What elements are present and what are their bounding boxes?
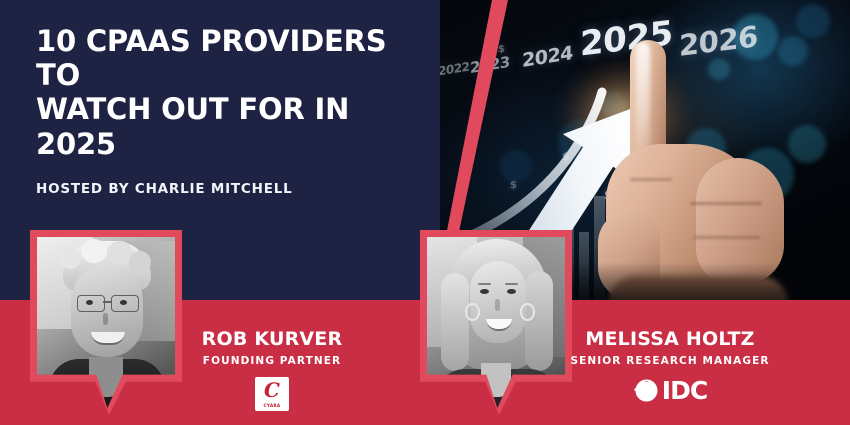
year-label-2022: 2022 [440, 60, 469, 79]
title-line-2: WATCH OUT FOR IN 2025 [36, 92, 349, 160]
page-title: 10 CPaaS PROVIDERS TO WATCH OUT FOR IN 2… [36, 24, 436, 161]
right-red-band [438, 318, 850, 425]
dollar-symbol: $ [510, 180, 517, 191]
title-line-1: 10 CPaaS PROVIDERS TO [36, 24, 386, 92]
dollar-symbol: $ [498, 44, 505, 55]
title-block: 10 CPaaS PROVIDERS TO WATCH OUT FOR IN 2… [36, 24, 436, 197]
host-line: HOSTED BY CHARLIE MITCHELL [36, 181, 436, 197]
bokeh-light [796, 4, 830, 38]
year-label-2024: 2024 [522, 42, 573, 72]
hero-artwork: 2022 2023 2024 2025 2026 [440, 0, 850, 318]
webinar-promo-banner: 2022 2023 2024 2025 2026 [0, 0, 850, 425]
bokeh-light [500, 150, 532, 182]
year-label-2023: 2023 [470, 53, 510, 77]
dollar-symbol: $ [538, 226, 545, 237]
dollar-symbol: $ [562, 150, 570, 163]
